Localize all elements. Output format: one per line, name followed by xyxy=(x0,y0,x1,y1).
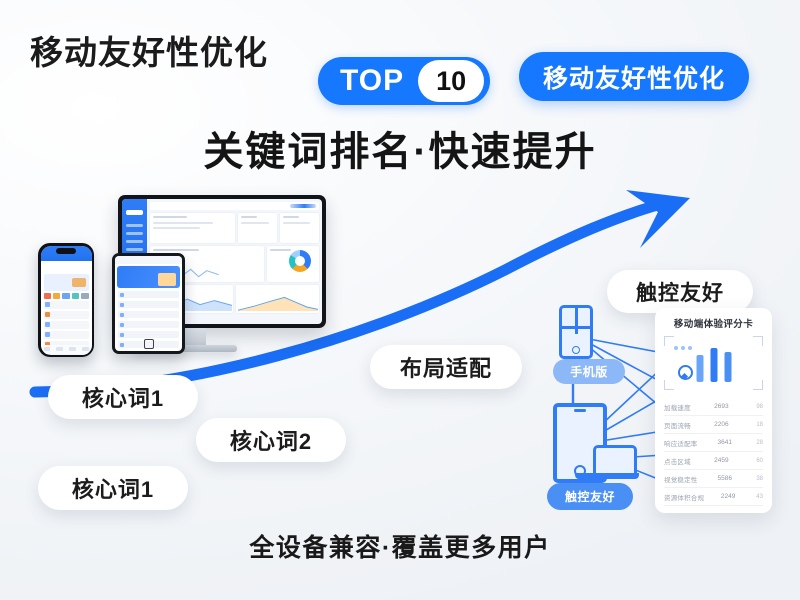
tablet-mockup xyxy=(112,253,185,354)
score-row-delta: 18 xyxy=(752,422,763,428)
score-row-value: 5586 xyxy=(718,475,732,482)
keyword-pill-3[interactable]: 核心词1 xyxy=(38,466,188,510)
score-card: 移动端体验评分卡 加载速度269398页面流畅220618响应适配率364128… xyxy=(655,308,772,513)
score-row-name: 页面流畅 xyxy=(664,420,691,430)
phone-search-bar xyxy=(44,264,89,271)
score-row-name: 视觉稳定性 xyxy=(664,474,698,484)
diagram-laptop-base xyxy=(575,473,639,479)
score-row-name: 响应适配率 xyxy=(664,438,698,448)
diagram-pill-touch[interactable]: 触控友好 xyxy=(547,483,633,510)
score-row-value: 2693 xyxy=(714,403,728,410)
header-blue-pill: 移动友好性优化 xyxy=(519,52,749,101)
score-card-rows: 加载速度269398页面流畅220618响应适配率364128点击区域24596… xyxy=(664,398,763,506)
score-card-row: 响应适配率364128 xyxy=(664,434,763,452)
device-mockups xyxy=(30,195,340,365)
score-card-row: 页面流畅220618 xyxy=(664,416,763,434)
footer-slogan: 全设备兼容·覆盖更多用户 xyxy=(0,528,800,564)
score-card-row: 点击区域245960 xyxy=(664,452,763,470)
top-10-badge: TOP 10 xyxy=(318,57,490,105)
keyword-pill-1[interactable]: 核心词1 xyxy=(48,375,198,419)
score-row-delta: 60 xyxy=(752,458,763,464)
poster-canvas: 移动友好性优化 TOP 10 移动友好性优化 关键词排名·快速提升 xyxy=(0,0,800,600)
score-card-row: 视觉稳定性558638 xyxy=(664,470,763,488)
location-pin-icon xyxy=(678,365,693,380)
keyword-pill-2[interactable]: 核心词2 xyxy=(196,418,346,462)
score-row-value: 2459 xyxy=(714,457,728,464)
score-row-name: 点击区域 xyxy=(664,456,691,466)
top-badge-number: 10 xyxy=(418,60,484,102)
tablet-home-button xyxy=(144,339,154,349)
keyword-pill-layout[interactable]: 布局适配 xyxy=(370,345,522,389)
top-badge-word: TOP xyxy=(318,66,418,96)
score-row-delta: 43 xyxy=(752,494,763,500)
score-row-delta: 98 xyxy=(752,404,763,410)
score-row-delta: 28 xyxy=(752,440,763,446)
score-row-name: 资源体积合规 xyxy=(664,492,704,502)
score-card-row: 资源体积合规224943 xyxy=(664,488,763,506)
score-row-value: 2249 xyxy=(721,493,735,500)
bar-chart-icon xyxy=(696,348,731,382)
score-card-row: 加载速度269398 xyxy=(664,398,763,416)
score-row-value: 2206 xyxy=(714,421,728,428)
score-card-chart xyxy=(664,336,763,390)
donut-chart xyxy=(289,250,311,272)
diagram-pill-mobile[interactable]: 手机版 xyxy=(553,359,625,384)
score-row-name: 加载速度 xyxy=(664,402,691,412)
diagram-phone-small-icon xyxy=(559,305,593,359)
sparkle-dots-icon xyxy=(674,346,692,350)
score-row-delta: 38 xyxy=(752,476,763,482)
kicker-title: 移动友好性优化 xyxy=(30,26,268,74)
device-relation-diagram: 手机版 触控友好 xyxy=(545,305,655,510)
score-card-title: 移动端体验评分卡 xyxy=(664,316,763,330)
phone-mockup xyxy=(38,243,94,357)
phone-notch xyxy=(56,248,76,254)
score-row-value: 3641 xyxy=(718,439,732,446)
